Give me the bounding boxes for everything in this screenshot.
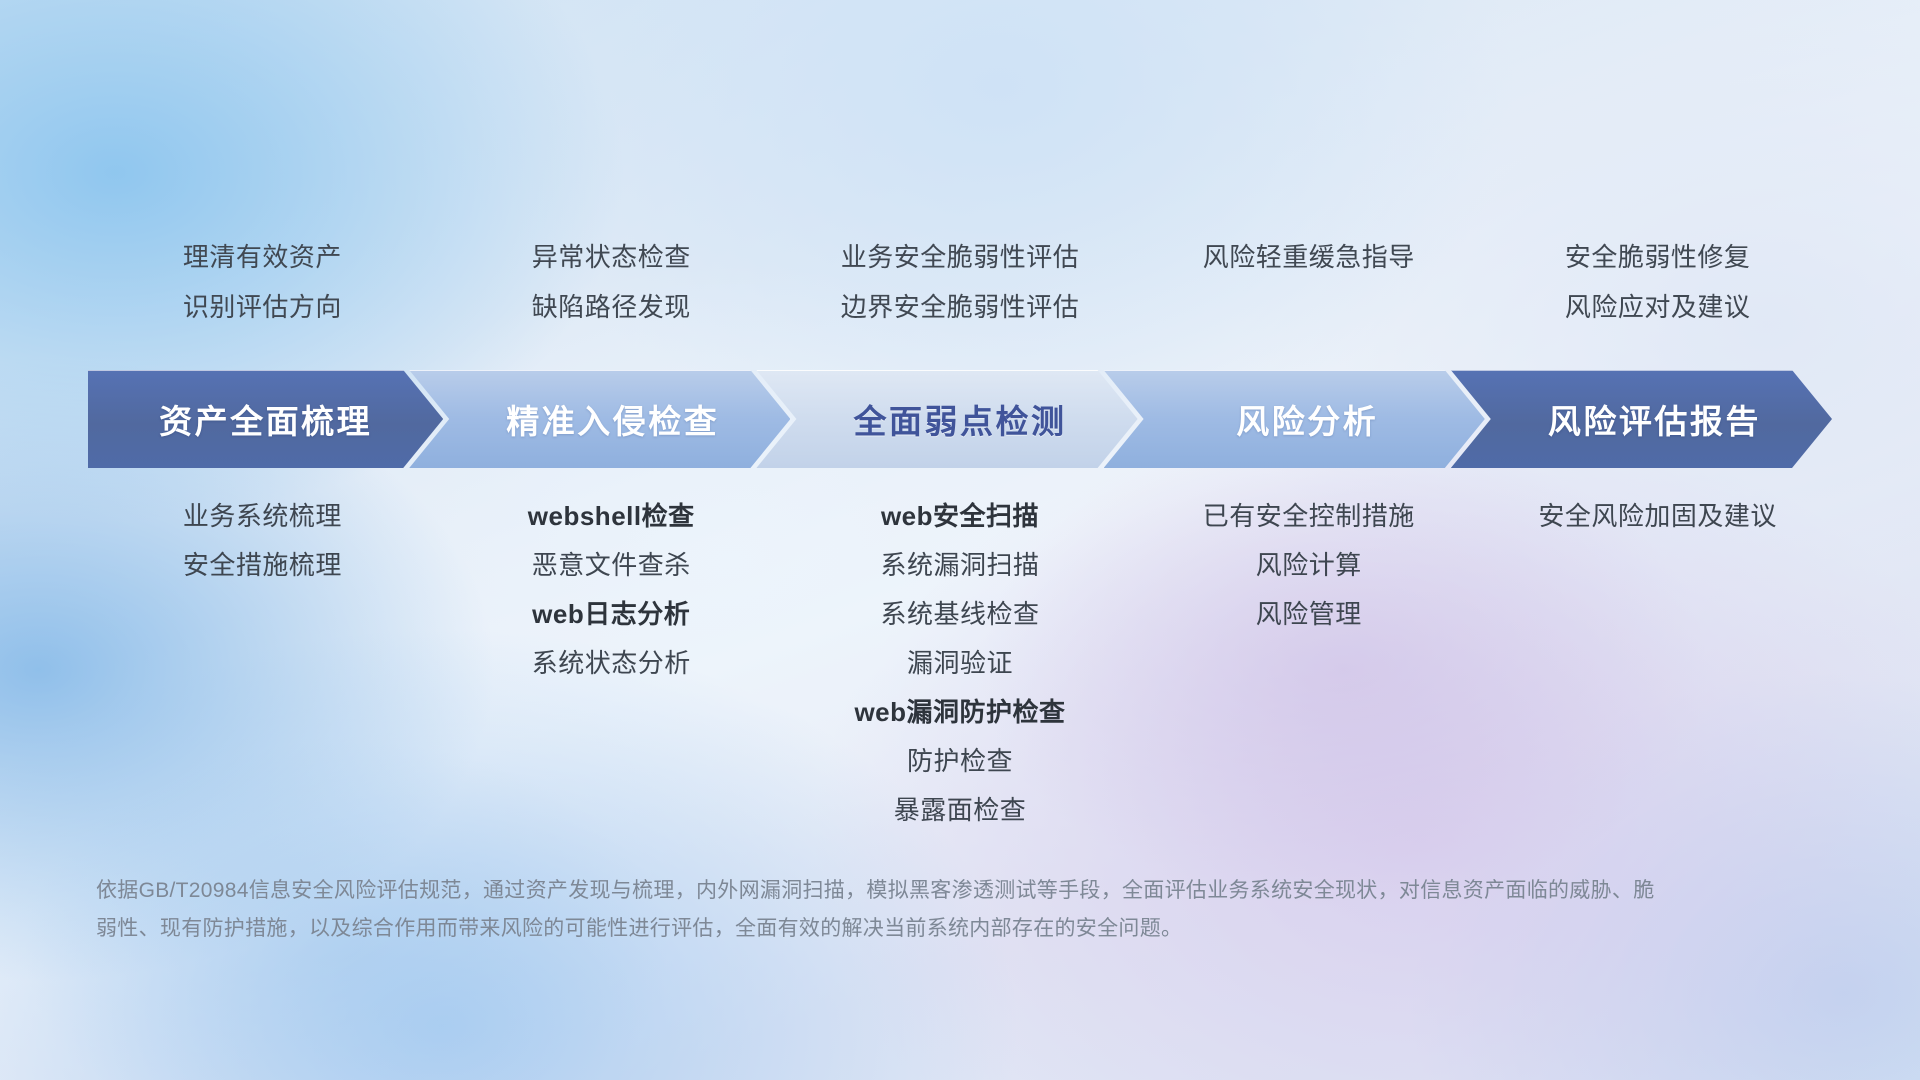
stage-item: web安全扫描 <box>881 492 1039 541</box>
stage-chevron[interactable]: 全面弱点检测 <box>756 370 1137 468</box>
stage-chevron-label: 精准入侵检查 <box>506 395 719 443</box>
stage-item: 安全风险加固及建议 <box>1538 492 1777 541</box>
stage-item: web漏洞防护检查 <box>854 688 1065 737</box>
stage-item: 风险计算 <box>1256 541 1362 590</box>
stage-note: 理清有效资产 <box>183 232 342 282</box>
stage-item: 系统漏洞扫描 <box>880 541 1039 590</box>
stage-note: 缺陷路径发现 <box>532 282 691 332</box>
stage-chevron-label: 资产全面梳理 <box>159 395 372 443</box>
stage-notes-column: 理清有效资产识别评估方向 <box>88 232 437 332</box>
stage-item: webshell检查 <box>528 492 695 541</box>
stage-note: 异常状态检查 <box>532 232 691 282</box>
stage-chevron-banner: 资产全面梳理精准入侵检查全面弱点检测风险分析风险评估报告 <box>88 370 1832 468</box>
stage-detail-lists-row: 业务系统梳理安全措施梳理webshell检查恶意文件查杀web日志分析系统状态分… <box>88 492 1832 835</box>
stage-chevron[interactable]: 资产全面梳理 <box>88 370 443 468</box>
stage-items-column: 安全风险加固及建议 <box>1483 492 1832 541</box>
stage-item: 漏洞验证 <box>907 639 1013 688</box>
stage-item: 防护检查 <box>907 737 1013 786</box>
diagram-content: 理清有效资产识别评估方向异常状态检查缺陷路径发现业务安全脆弱性评估边界安全脆弱性… <box>0 0 1920 1080</box>
stage-note: 边界安全脆弱性评估 <box>841 282 1080 332</box>
stage-note: 业务安全脆弱性评估 <box>841 232 1080 282</box>
stage-items-column: 已有安全控制措施风险计算风险管理 <box>1134 492 1483 639</box>
stage-item: 恶意文件查杀 <box>532 541 691 590</box>
stage-item: 安全措施梳理 <box>183 541 342 590</box>
stage-notes-column: 风险轻重缓急指导 <box>1134 232 1483 332</box>
stage-chevron-label: 风险评估报告 <box>1548 395 1761 443</box>
stage-notes-column: 安全脆弱性修复风险应对及建议 <box>1483 232 1832 332</box>
stage-chevron-label: 全面弱点检测 <box>854 395 1067 443</box>
stage-item: 暴露面检查 <box>894 786 1027 835</box>
stage-chevron[interactable]: 风险评估报告 <box>1451 370 1832 468</box>
stage-item: web日志分析 <box>532 590 690 639</box>
footer-paragraph: 依据GB/T20984信息安全风险评估规范，通过资产发现与梳理，内外网漏洞扫描，… <box>96 872 1656 948</box>
stage-note: 风险轻重缓急指导 <box>1203 232 1415 282</box>
stage-chevron[interactable]: 风险分析 <box>1104 370 1485 468</box>
stage-item: 风险管理 <box>1256 590 1362 639</box>
stage-notes-column: 异常状态检查缺陷路径发现 <box>437 232 786 332</box>
stage-note: 识别评估方向 <box>183 282 342 332</box>
stage-note: 安全脆弱性修复 <box>1565 232 1751 282</box>
stage-items-column: 业务系统梳理安全措施梳理 <box>88 492 437 590</box>
stage-item: 已有安全控制措施 <box>1203 492 1415 541</box>
stage-notes-column: 业务安全脆弱性评估边界安全脆弱性评估 <box>786 232 1135 332</box>
stage-chevron-label: 风险分析 <box>1236 395 1378 443</box>
stage-note: 风险应对及建议 <box>1565 282 1751 332</box>
stage-item: 业务系统梳理 <box>183 492 342 541</box>
top-notes-row: 理清有效资产识别评估方向异常状态检查缺陷路径发现业务安全脆弱性评估边界安全脆弱性… <box>88 232 1832 332</box>
stage-items-column: web安全扫描系统漏洞扫描系统基线检查漏洞验证web漏洞防护检查防护检查暴露面检… <box>786 492 1135 835</box>
stage-item: 系统状态分析 <box>532 639 691 688</box>
footer-description: 依据GB/T20984信息安全风险评估规范，通过资产发现与梳理，内外网漏洞扫描，… <box>96 872 1656 948</box>
stage-chevron[interactable]: 精准入侵检查 <box>409 370 790 468</box>
stage-item: 系统基线检查 <box>880 590 1039 639</box>
stage-items-column: webshell检查恶意文件查杀web日志分析系统状态分析 <box>437 492 786 688</box>
